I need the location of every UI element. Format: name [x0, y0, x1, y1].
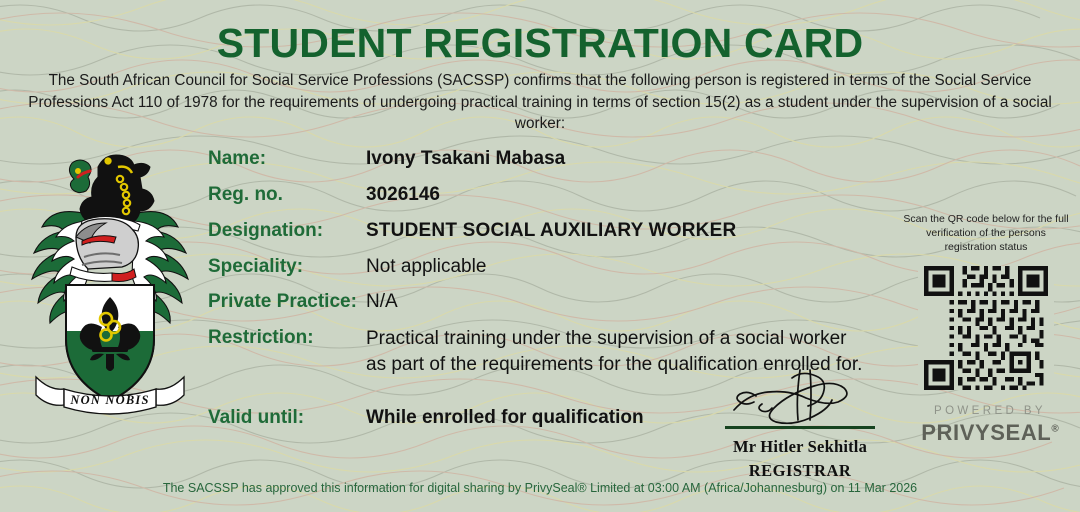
field-value-private-practice: N/A	[366, 291, 398, 313]
field-label-reg-no: Reg. no.	[208, 184, 283, 206]
field-label-private-practice: Private Practice:	[208, 291, 357, 313]
field-value-valid-until: While enrolled for qualification	[366, 407, 644, 429]
footer-approval-text: The SACSSP has approved this information…	[0, 481, 1080, 495]
qr-code[interactable]	[918, 266, 1054, 390]
field-label-restriction: Restriction:	[208, 327, 314, 349]
privyseal-brand-text: PRIVYSEAL	[921, 420, 1051, 445]
powered-by-label: POWERED BY	[916, 405, 1064, 417]
field-label-name: Name:	[208, 148, 266, 170]
field-value-designation: STUDENT SOCIAL AUXILIARY WORKER	[366, 220, 736, 242]
emblem-motto-text: NON NOBIS	[69, 393, 149, 407]
student-registration-card: STUDENT REGISTRATION CARD The South Afri…	[0, 0, 1080, 512]
field-label-speciality: Speciality:	[208, 256, 303, 278]
registered-trademark-icon: ®	[1051, 424, 1058, 435]
registrar-name: Mr Hitler Sekhitla	[700, 437, 900, 457]
privyseal-brand: PRIVYSEAL®	[914, 420, 1066, 446]
field-value-name: Ivony Tsakani Mabasa	[366, 148, 565, 170]
field-value-reg-no: 3026146	[366, 184, 440, 206]
coat-of-arms-emblem: NON NOBIS	[20, 145, 200, 415]
field-label-valid-until: Valid until:	[208, 407, 304, 429]
registrar-role: REGISTRAR	[700, 461, 900, 481]
registrar-signature-icon	[700, 368, 900, 426]
signature-rule	[725, 426, 875, 429]
intro-paragraph: The South African Council for Social Ser…	[28, 70, 1052, 135]
field-label-designation: Designation:	[208, 220, 323, 242]
qr-instruction-text: Scan the QR code below for the full veri…	[900, 212, 1072, 254]
signature-block: Mr Hitler Sekhitla REGISTRAR	[700, 368, 900, 481]
card-title: STUDENT REGISTRATION CARD	[0, 20, 1080, 67]
field-value-speciality: Not applicable	[366, 256, 486, 278]
